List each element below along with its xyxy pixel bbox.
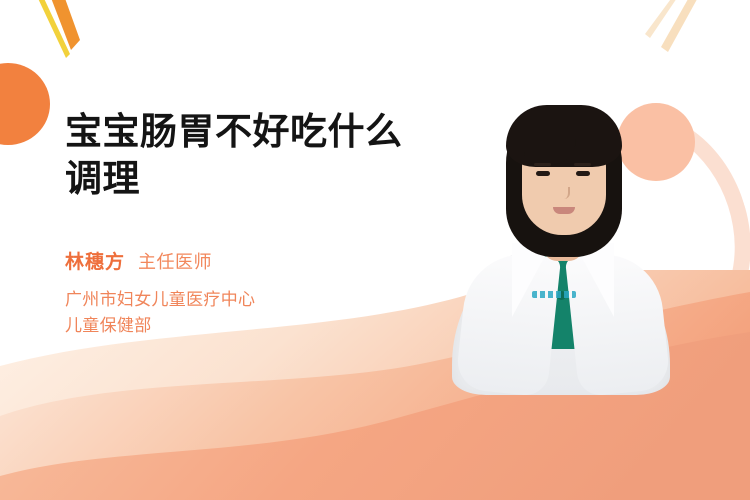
- top-right-cream-stripe-b: [661, 0, 701, 52]
- doctor-organization: 广州市妇女儿童医疗中心 儿童保健部: [65, 287, 425, 339]
- doctor-name-row: 林穗方 主任医师: [65, 247, 425, 274]
- orange-circle: [0, 63, 50, 145]
- hair-fringe: [506, 105, 622, 167]
- doctor-credits: 林穗方 主任医师 广州市妇女儿童医疗中心 儿童保健部: [65, 247, 425, 339]
- top-left-yellow-stripe: [35, 0, 70, 58]
- lower-left-faint-stripe: [158, 368, 183, 395]
- doctor-topic-card: 宝宝肠胃不好吃什么调理 林穗方 主任医师 广州市妇女儿童医疗中心 儿童保健部: [0, 0, 750, 500]
- top-left-orange-stripe: [48, 0, 80, 50]
- doctor-professional-title: 主任医师: [138, 248, 212, 274]
- page-title: 宝宝肠胃不好吃什么调理: [65, 108, 415, 202]
- doctor-portrait: [446, 95, 676, 385]
- eye-right: [576, 171, 590, 176]
- coat-name-badge: [532, 291, 576, 298]
- doctor-name: 林穗方: [65, 247, 125, 274]
- mouth: [553, 207, 575, 214]
- eyebrow-left: [534, 163, 551, 166]
- eye-left: [536, 171, 550, 176]
- headline-block: 宝宝肠胃不好吃什么调理: [65, 108, 415, 202]
- eyebrow-right: [574, 163, 591, 166]
- top-right-cream-stripe-a: [645, 0, 681, 38]
